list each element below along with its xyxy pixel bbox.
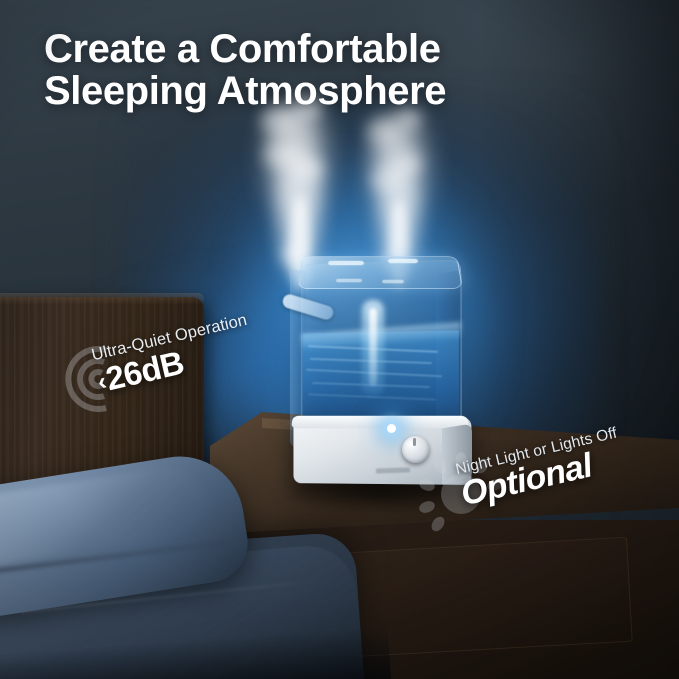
page-title: Create a Comfortable Sleeping Atmosphere xyxy=(44,28,604,113)
bed-headboard-top-edge xyxy=(0,293,204,305)
control-knob-indicator xyxy=(413,438,416,446)
product-marketing-image: Create a Comfortable Sleeping Atmosphere… xyxy=(0,0,679,679)
headline-line-2: Sleeping Atmosphere xyxy=(44,70,604,112)
water-jet-core xyxy=(369,308,377,386)
callout-ultra-quiet: Ultra-Quiet Operation ‹26dB xyxy=(82,330,322,422)
headline-line-1: Create a Comfortable xyxy=(44,28,604,70)
night-light-led xyxy=(387,424,396,433)
top-lid[interactable] xyxy=(297,256,463,289)
callout-night-light: Night Light or Lights Off Optional xyxy=(440,455,675,545)
